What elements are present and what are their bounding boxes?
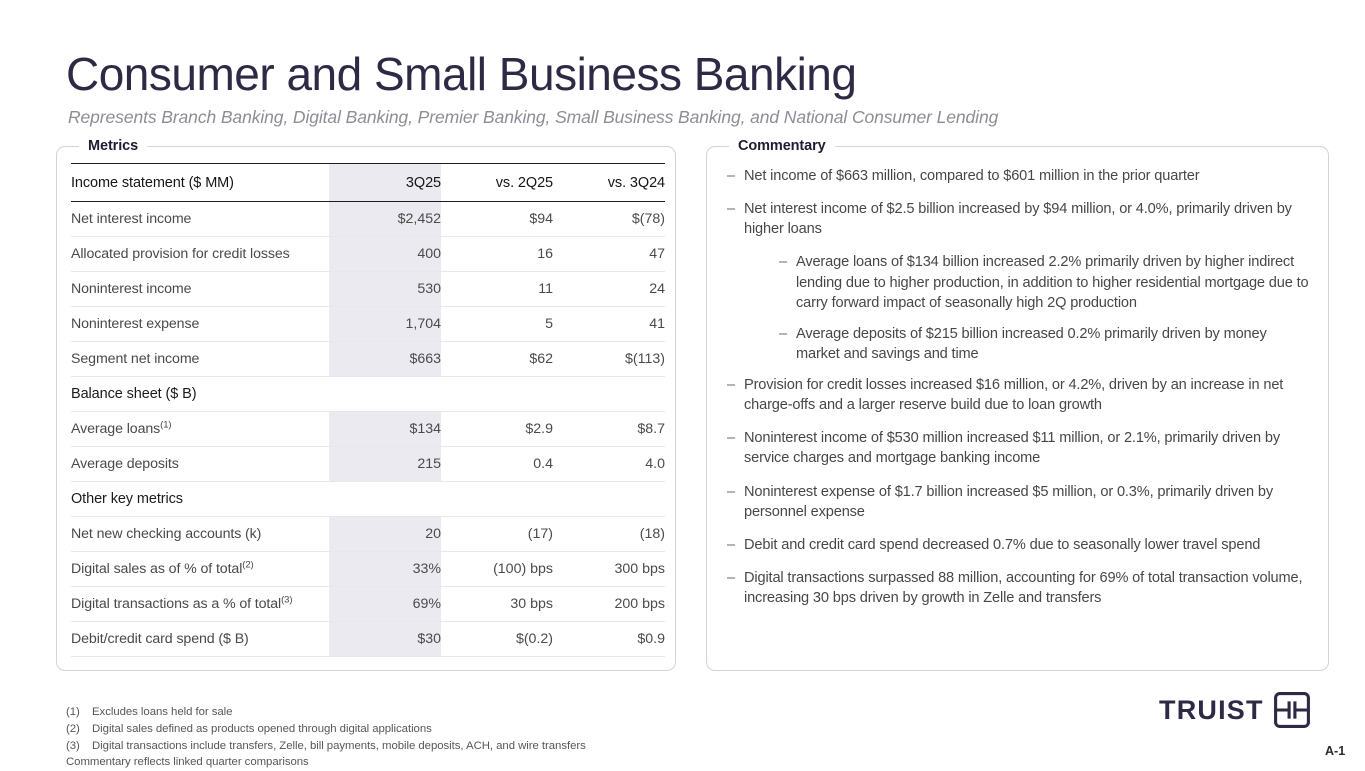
footnotes: (1)Excludes loans held for sale(2)Digita… — [66, 704, 586, 771]
row-value-vs-2q25: 11 — [441, 272, 553, 307]
commentary-bullet-level-1: –Noninterest expense of $1.7 billion inc… — [725, 482, 1312, 522]
row-value-vs-3q24: $(113) — [553, 342, 665, 377]
row-label-text: Noninterest expense — [71, 316, 199, 332]
row-value-vs-2q25: $2.9 — [441, 412, 553, 447]
row-label-text: Noninterest income — [71, 281, 191, 297]
commentary-text: Net income of $663 million, compared to … — [744, 166, 1312, 186]
commentary-bullet-level-1: –Provision for credit losses increased $… — [725, 375, 1312, 415]
row-value-vs-2q25: $62 — [441, 342, 553, 377]
row-label: Noninterest expense — [71, 307, 329, 342]
commentary-bullet-level-1: –Noninterest income of $530 million incr… — [725, 428, 1312, 468]
row-value-vs-2q25: 5 — [441, 307, 553, 342]
footnote-marker: (2) — [242, 559, 253, 570]
table-section-label: Other key metrics — [71, 482, 665, 517]
commentary-bullet-level-1: –Net interest income of $2.5 billion inc… — [725, 199, 1312, 239]
commentary-text: Provision for credit losses increased $1… — [744, 375, 1312, 415]
row-label-text: Digital transactions as a % of total — [71, 596, 281, 612]
row-label-text: Segment net income — [71, 351, 199, 367]
column-header-vs-3q24: vs. 3Q24 — [553, 164, 665, 202]
commentary-bullet-level-1: –Digital transactions surpassed 88 milli… — [725, 568, 1312, 608]
row-value-vs-3q24: 41 — [553, 307, 665, 342]
row-value-3q25: 530 — [329, 272, 441, 307]
row-label-text: Allocated provision for credit losses — [71, 246, 290, 262]
bullet-dash-icon: – — [727, 482, 744, 502]
table-row: Average deposits2150.44.0 — [71, 447, 665, 482]
row-label-text: Debit/credit card spend ($ B) — [71, 631, 249, 647]
row-label: Average loans(1) — [71, 412, 329, 447]
table-row: Segment net income$663$62$(113) — [71, 342, 665, 377]
commentary-bullet-level-2: –Average deposits of $215 billion increa… — [725, 324, 1312, 364]
row-value-vs-2q25: $(0.2) — [441, 622, 553, 657]
row-value-vs-3q24: $0.9 — [553, 622, 665, 657]
row-value-vs-3q24: 47 — [553, 237, 665, 272]
footnote-text: Excludes loans held for sale — [92, 704, 586, 721]
row-label-text: Digital sales as of % of total — [71, 561, 242, 577]
footnote-note: Commentary reflects linked quarter compa… — [66, 754, 586, 771]
table-row: Average loans(1)$134$2.9$8.7 — [71, 412, 665, 447]
commentary-bullet-level-1: –Net income of $663 million, compared to… — [725, 166, 1312, 186]
truist-logo: TRUIST — [1159, 691, 1311, 729]
commentary-text: Average loans of $134 billion increased … — [796, 252, 1312, 312]
footnote-marker: (3) — [281, 594, 292, 605]
row-value-vs-2q25: (100) bps — [441, 552, 553, 587]
row-value-3q25: 215 — [329, 447, 441, 482]
commentary-text: Digital transactions surpassed 88 millio… — [744, 568, 1312, 608]
row-value-vs-2q25: 16 — [441, 237, 553, 272]
row-label: Allocated provision for credit losses — [71, 237, 329, 272]
row-label: Debit/credit card spend ($ B) — [71, 622, 329, 657]
row-label: Net interest income — [71, 202, 329, 237]
row-label: Noninterest income — [71, 272, 329, 307]
row-label-text: Average loans — [71, 421, 160, 437]
commentary-panel: Commentary –Net income of $663 million, … — [706, 138, 1329, 671]
table-header-row: Income statement ($ MM) 3Q25 vs. 2Q25 vs… — [71, 164, 665, 202]
row-value-vs-3q24: $(78) — [553, 202, 665, 237]
row-value-vs-3q24: $8.7 — [553, 412, 665, 447]
row-value-vs-2q25: (17) — [441, 517, 553, 552]
footnote-marker: (1) — [160, 419, 171, 430]
footnote-mark: (2) — [66, 721, 92, 738]
bullet-dash-icon: – — [779, 324, 796, 344]
truist-mark-icon — [1273, 691, 1311, 729]
table-row: Net new checking accounts (k)20(17)(18) — [71, 517, 665, 552]
footnote-mark: (3) — [66, 738, 92, 755]
row-value-vs-3q24: 4.0 — [553, 447, 665, 482]
page-number: A-1 — [1325, 744, 1345, 758]
footnote-item: (3)Digital transactions include transfer… — [66, 738, 586, 755]
metrics-table: Income statement ($ MM) 3Q25 vs. 2Q25 vs… — [71, 163, 665, 657]
column-header-metric: Income statement ($ MM) — [71, 164, 329, 202]
column-header-3q25: 3Q25 — [329, 164, 441, 202]
row-label-text: Average deposits — [71, 456, 179, 472]
commentary-text: Debit and credit card spend decreased 0.… — [744, 535, 1312, 555]
row-value-vs-2q25: 0.4 — [441, 447, 553, 482]
row-value-3q25: $30 — [329, 622, 441, 657]
row-value-3q25: $663 — [329, 342, 441, 377]
footnote-text: Digital transactions include transfers, … — [92, 738, 586, 755]
table-section-row: Other key metrics — [71, 482, 665, 517]
commentary-text: Net interest income of $2.5 billion incr… — [744, 199, 1312, 239]
commentary-text: Average deposits of $215 billion increas… — [796, 324, 1312, 364]
row-value-vs-2q25: $94 — [441, 202, 553, 237]
row-value-3q25: 400 — [329, 237, 441, 272]
row-value-3q25: $2,452 — [329, 202, 441, 237]
table-row: Digital sales as of % of total(2)33%(100… — [71, 552, 665, 587]
truist-wordmark: TRUIST — [1159, 697, 1264, 724]
bullet-dash-icon: – — [779, 252, 796, 272]
row-label-text: Net interest income — [71, 211, 191, 227]
footnote-mark: (1) — [66, 704, 92, 721]
row-label: Digital transactions as a % of total(3) — [71, 587, 329, 622]
row-value-3q25: 20 — [329, 517, 441, 552]
commentary-bullet-level-1: –Debit and credit card spend decreased 0… — [725, 535, 1312, 555]
commentary-text: Noninterest expense of $1.7 billion incr… — [744, 482, 1312, 522]
row-value-vs-3q24: 200 bps — [553, 587, 665, 622]
row-value-vs-3q24: 300 bps — [553, 552, 665, 587]
table-row: Debit/credit card spend ($ B)$30$(0.2)$0… — [71, 622, 665, 657]
row-label: Net new checking accounts (k) — [71, 517, 329, 552]
row-value-vs-2q25: 30 bps — [441, 587, 553, 622]
row-value-3q25: 1,704 — [329, 307, 441, 342]
row-value-3q25: 69% — [329, 587, 441, 622]
commentary-text: Noninterest income of $530 million incre… — [744, 428, 1312, 468]
bullet-dash-icon: – — [727, 568, 744, 588]
footnote-item: (1)Excludes loans held for sale — [66, 704, 586, 721]
table-section-label: Balance sheet ($ B) — [71, 377, 665, 412]
table-row: Noninterest expense1,704541 — [71, 307, 665, 342]
row-value-3q25: $134 — [329, 412, 441, 447]
column-header-vs-2q25: vs. 2Q25 — [441, 164, 553, 202]
table-section-row: Balance sheet ($ B) — [71, 377, 665, 412]
bullet-dash-icon: – — [727, 535, 744, 555]
table-row: Allocated provision for credit losses400… — [71, 237, 665, 272]
row-label: Digital sales as of % of total(2) — [71, 552, 329, 587]
row-value-vs-3q24: (18) — [553, 517, 665, 552]
footnote-text: Digital sales defined as products opened… — [92, 721, 586, 738]
page-subtitle: Represents Branch Banking, Digital Banki… — [68, 107, 998, 128]
bullet-dash-icon: – — [727, 428, 744, 448]
commentary-panel-label: Commentary — [729, 138, 835, 154]
table-row: Noninterest income5301124 — [71, 272, 665, 307]
footnote-item: (2)Digital sales defined as products ope… — [66, 721, 586, 738]
metrics-panel: Metrics Income statement ($ MM) 3Q25 vs.… — [56, 138, 676, 671]
row-value-vs-3q24: 24 — [553, 272, 665, 307]
bullet-dash-icon: – — [727, 375, 744, 395]
bullet-dash-icon: – — [727, 199, 744, 219]
row-label: Segment net income — [71, 342, 329, 377]
table-row: Net interest income$2,452$94$(78) — [71, 202, 665, 237]
row-label-text: Net new checking accounts (k) — [71, 526, 261, 542]
row-value-3q25: 33% — [329, 552, 441, 587]
metrics-panel-label: Metrics — [79, 138, 147, 154]
commentary-list: –Net income of $663 million, compared to… — [707, 166, 1328, 608]
commentary-bullet-level-2: –Average loans of $134 billion increased… — [725, 252, 1312, 312]
page-title: Consumer and Small Business Banking — [66, 50, 856, 100]
row-label: Average deposits — [71, 447, 329, 482]
table-row: Digital transactions as a % of total(3)6… — [71, 587, 665, 622]
bullet-dash-icon: – — [727, 166, 744, 186]
